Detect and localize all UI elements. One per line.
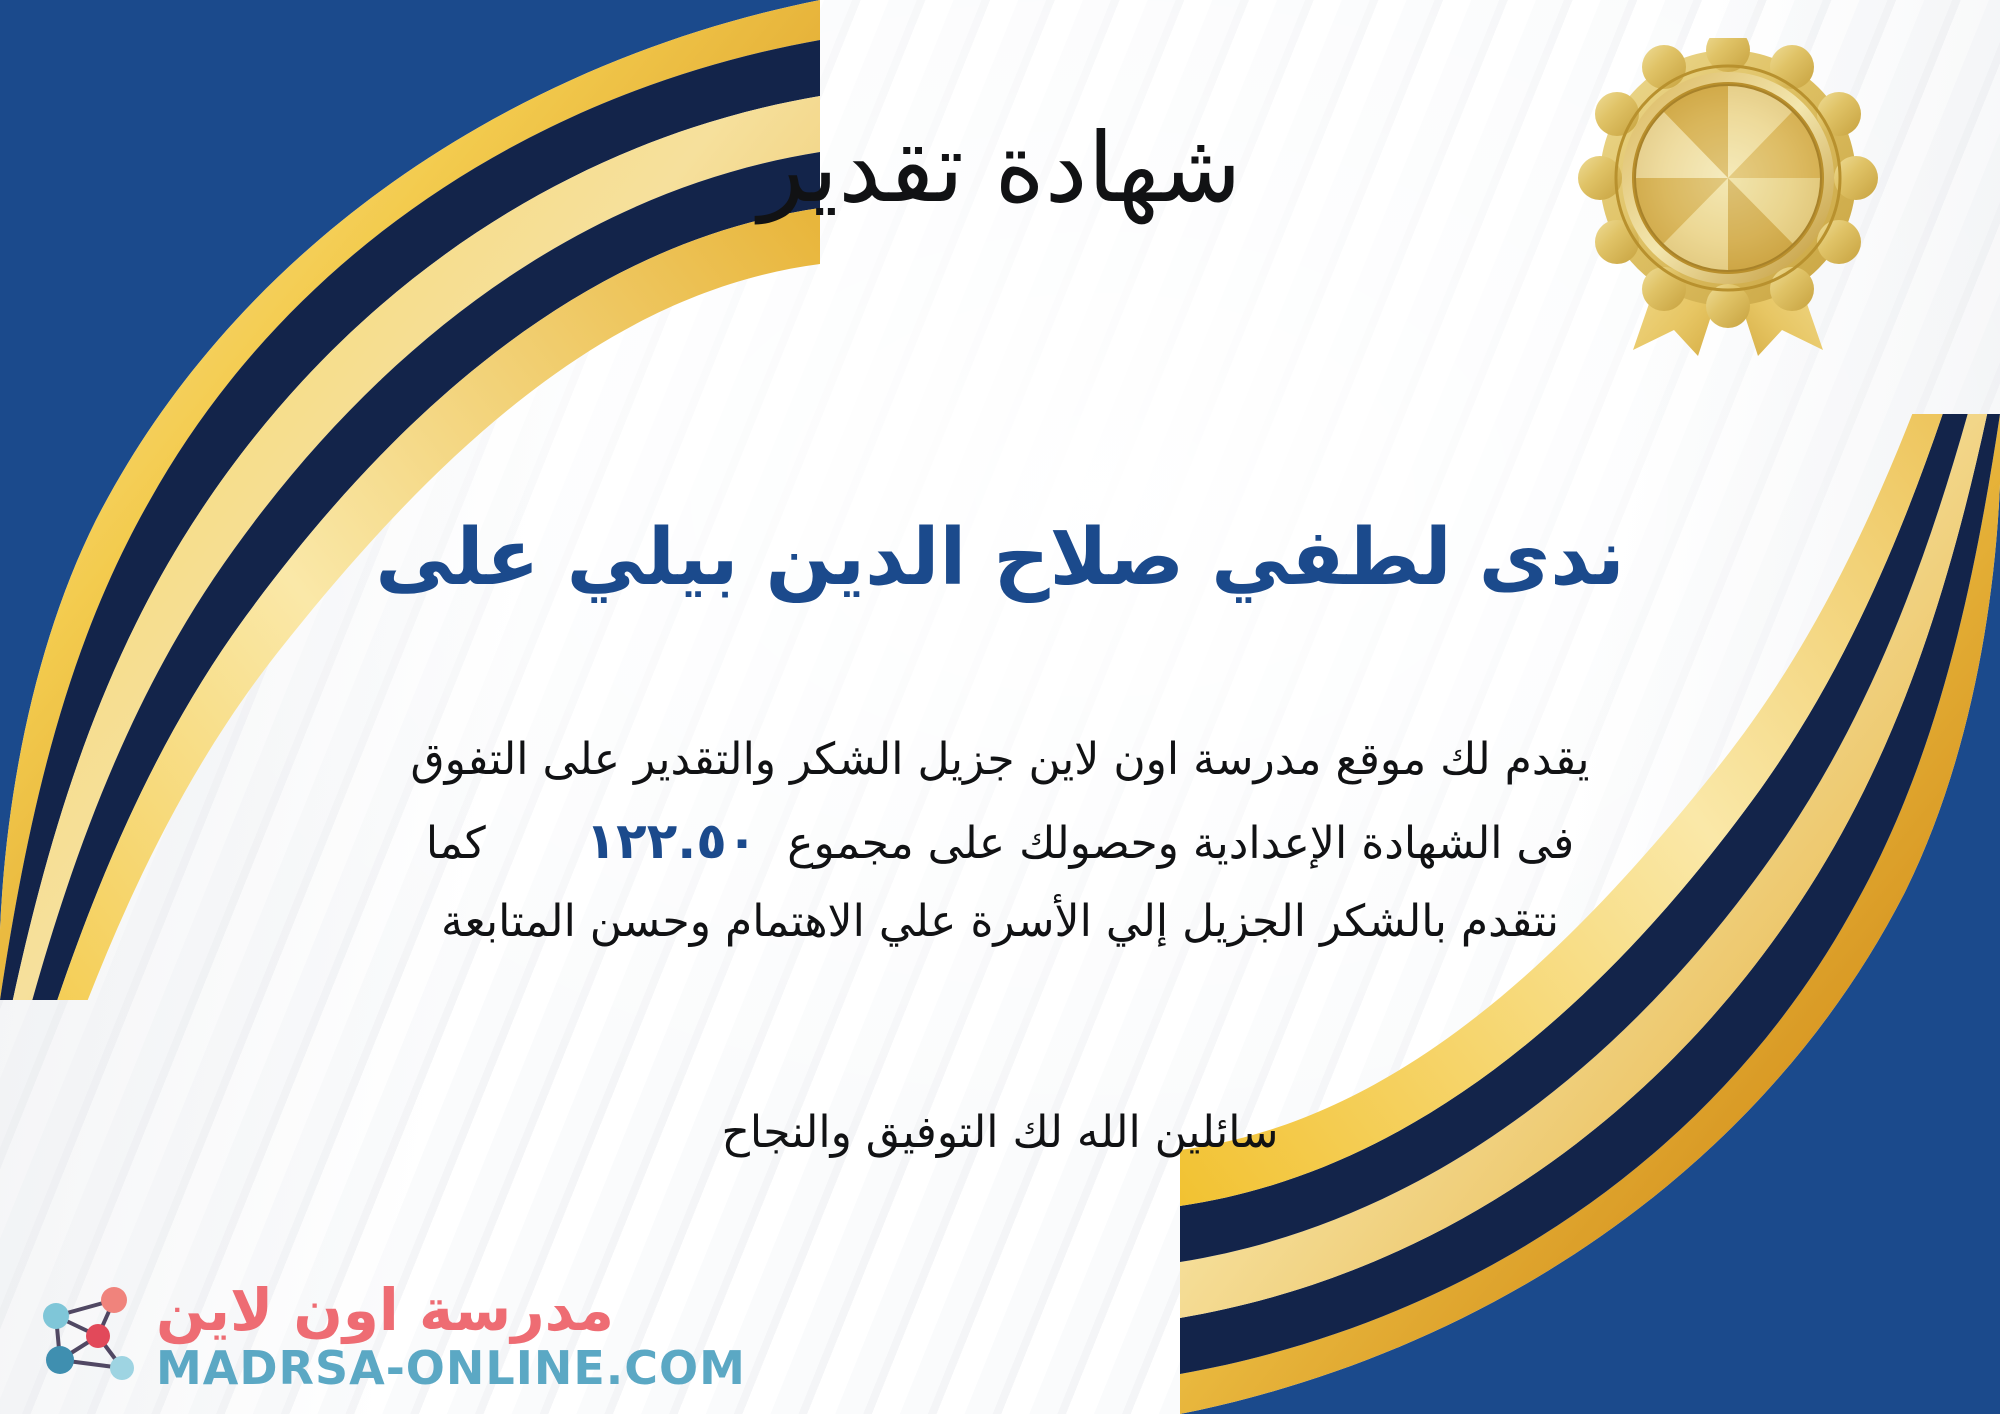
body-line-3: نتقدم بالشكر الجزيل إلي الأسرة علي الاهت… xyxy=(150,884,1850,960)
node-teal-left xyxy=(43,1303,69,1329)
page-title: شهادة تقدير xyxy=(0,108,2000,228)
node-lightblue-lower-right xyxy=(110,1356,134,1380)
node-coral-top xyxy=(101,1287,127,1313)
body-line-1: يقدم لك موقع مدرسة اون لاين جزيل الشكر و… xyxy=(150,722,1850,798)
certificate-page: شهادة تقدير ندى لطفي صلاح الدين بيلي على… xyxy=(0,0,2000,1414)
logo-arabic-name: مدرسة اون لاين xyxy=(156,1281,614,1339)
network-nodes-icon xyxy=(26,1276,146,1396)
node-red-center xyxy=(86,1324,110,1348)
recipient-name: ندى لطفي صلاح الدين بيلي على xyxy=(0,510,2000,608)
certificate-body: يقدم لك موقع مدرسة اون لاين جزيل الشكر و… xyxy=(150,722,1850,959)
logo-text-group: مدرسة اون لاين MADRSA-ONLINE.COM xyxy=(156,1281,746,1391)
certificate-content: شهادة تقدير ندى لطفي صلاح الدين بيلي على… xyxy=(0,0,2000,1414)
body-line-2: فى الشهادة الإعدادية وحصولك على مجموع١٢٢… xyxy=(150,798,1850,884)
logo-domain-text: MADRSA-ONLINE.COM xyxy=(156,1345,746,1391)
brand-logo[interactable]: مدرسة اون لاين MADRSA-ONLINE.COM xyxy=(26,1276,746,1396)
grade-total-value: ١٢٢.٥٠ xyxy=(556,812,788,870)
body-line-2-text-b: كما xyxy=(426,818,486,869)
body-line-2-text-a: فى الشهادة الإعدادية وحصولك على مجموع xyxy=(787,818,1574,869)
node-blue-lower-left xyxy=(46,1346,74,1374)
closing-wish: سائلين الله لك التوفيق والنجاح xyxy=(0,1098,2000,1168)
